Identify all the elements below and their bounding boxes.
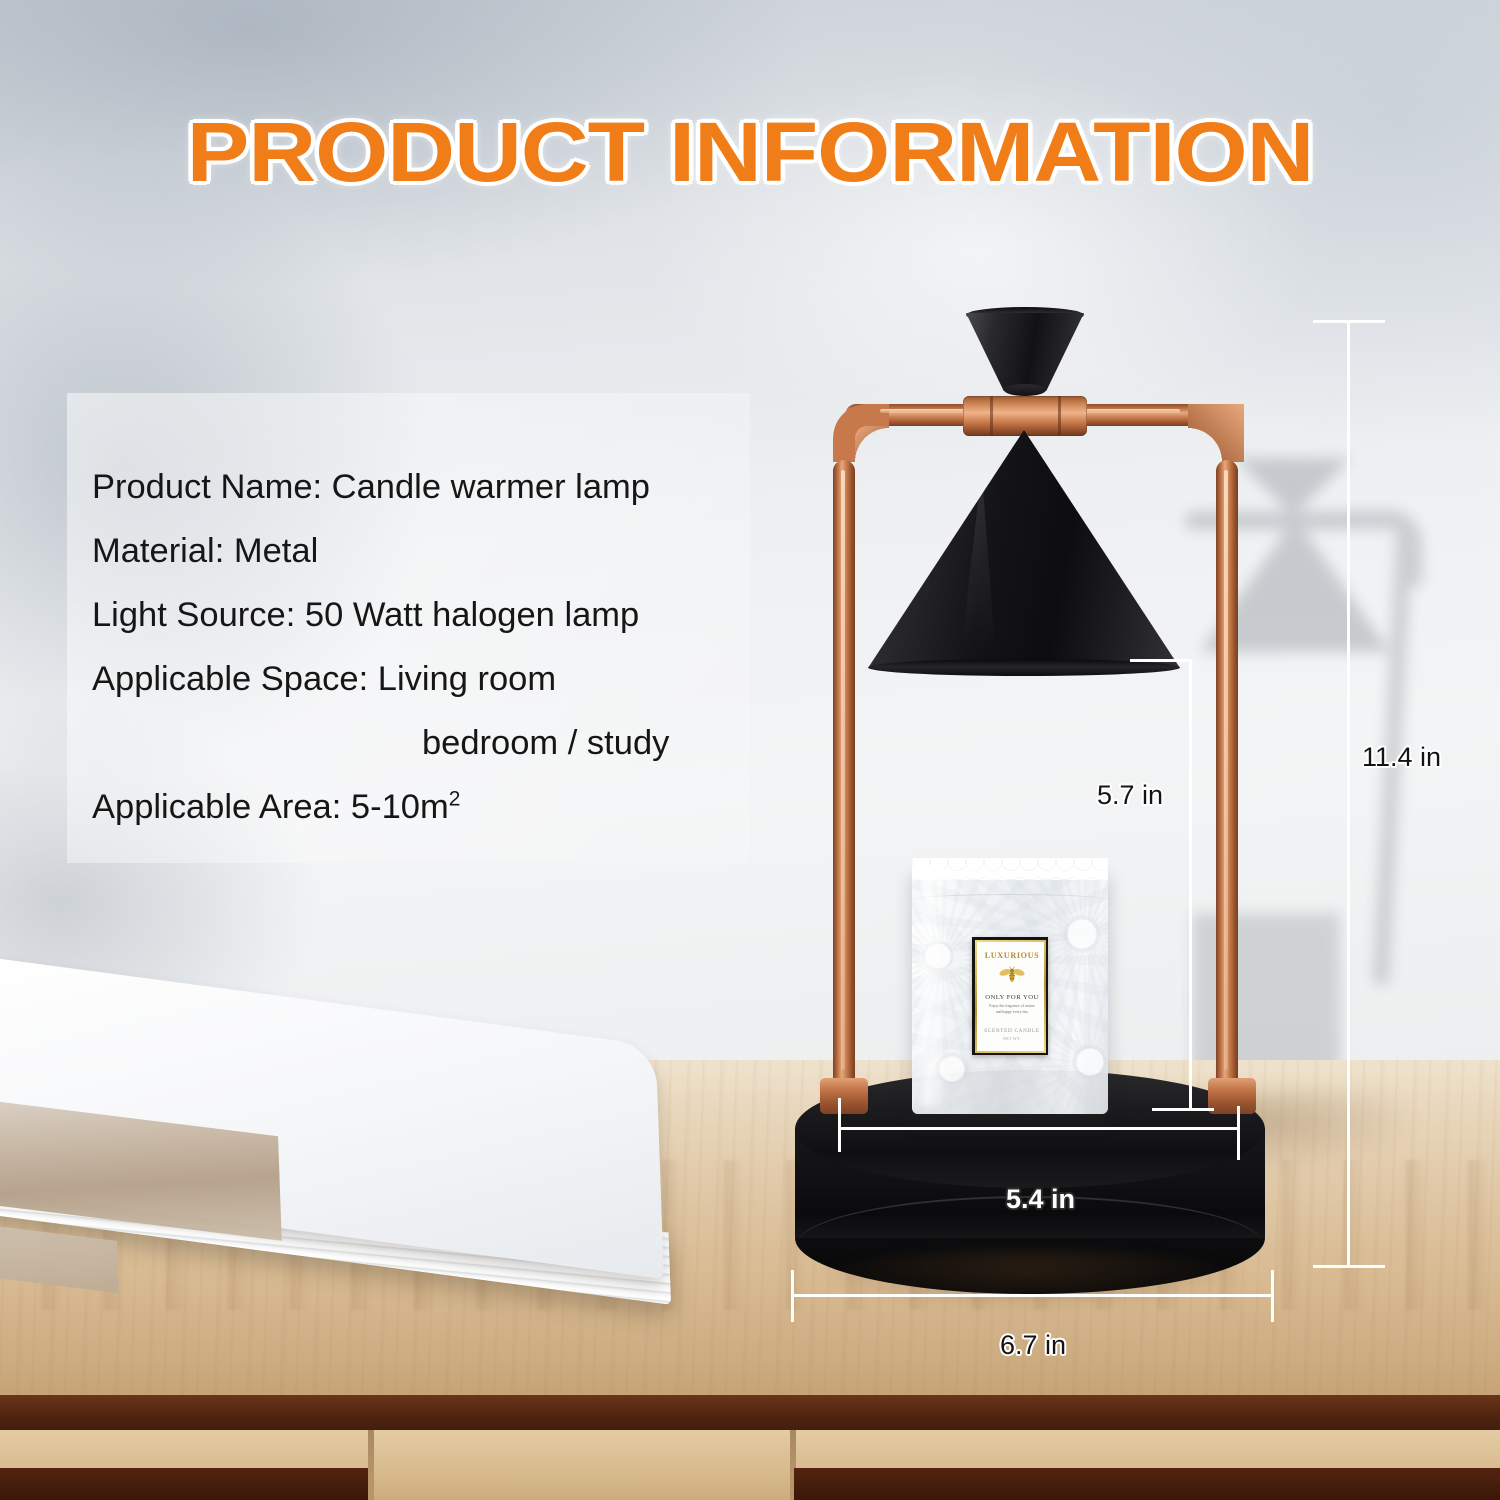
- candle-label-brand: LUXURIOUS: [985, 951, 1040, 960]
- copper-foot-collar-right: [1208, 1078, 1256, 1114]
- candle-label-product: SCENTED CANDLE: [984, 1028, 1039, 1034]
- hub-seam-left: [990, 396, 993, 436]
- dim-base-inner-line: [838, 1127, 1240, 1130]
- dim-base-width-tick-right: [1271, 1270, 1274, 1322]
- candle-label: LUXURIOUS ONLY FOR YOU Enjoy the fragran…: [972, 937, 1048, 1055]
- candle-label-tagline: ONLY FOR YOU: [985, 994, 1039, 1001]
- dim-shade-to-base-line: [1189, 659, 1192, 1111]
- copper-foot-collar-left: [820, 1078, 868, 1114]
- dim-base-width-label: 6.7 in: [1000, 1330, 1066, 1361]
- candle-label-gold-border: LUXURIOUS ONLY FOR YOU Enjoy the fragran…: [975, 940, 1046, 1053]
- dim-total-height-cap-bottom: [1313, 1265, 1385, 1268]
- bee-icon: [999, 966, 1025, 983]
- candle-warmer-lamp: LUXURIOUS ONLY FOR YOU Enjoy the fragran…: [0, 0, 1500, 1500]
- dim-shade-to-base-label: 5.7 in: [1097, 780, 1163, 811]
- dim-base-inner-tick-left: [838, 1098, 841, 1152]
- dim-shade-to-base-cap-top: [1130, 659, 1192, 662]
- finial-cone: [966, 313, 1084, 391]
- product-information-infographic: PRODUCT INFORMATION Product Name: Candle…: [0, 0, 1500, 1500]
- candle-label-fine-1: Enjoy the fragrance of nature: [980, 1004, 1044, 1009]
- copper-post-right-highlight: [1224, 470, 1228, 1070]
- lamp-base-contact-shadow: [810, 1250, 1250, 1310]
- copper-post-left-highlight: [841, 470, 845, 1070]
- dim-base-inner-tick-right: [1237, 1106, 1240, 1160]
- dim-total-height-label: 11.4 in: [1362, 742, 1441, 773]
- copper-connector-hub: [963, 396, 1087, 436]
- dim-shade-to-base-cap-bottom: [1152, 1108, 1214, 1111]
- candle-label-content: LUXURIOUS ONLY FOR YOU Enjoy the fragran…: [977, 942, 1048, 1055]
- hub-seam-right: [1058, 396, 1061, 436]
- dim-base-width-line: [791, 1294, 1274, 1297]
- candle-glass-highlight: [922, 870, 952, 1106]
- finial-bottom-disc: [1004, 384, 1046, 396]
- dim-base-inner-label: 5.4 in: [1006, 1184, 1075, 1215]
- lamp-shade-cone: [868, 430, 1180, 668]
- copper-corner-right: [1188, 404, 1244, 462]
- dim-total-height-line: [1347, 320, 1350, 1268]
- candle-label-net: NET WT.: [1003, 1037, 1021, 1041]
- candle-label-fine-2: and happy every day: [980, 1010, 1044, 1015]
